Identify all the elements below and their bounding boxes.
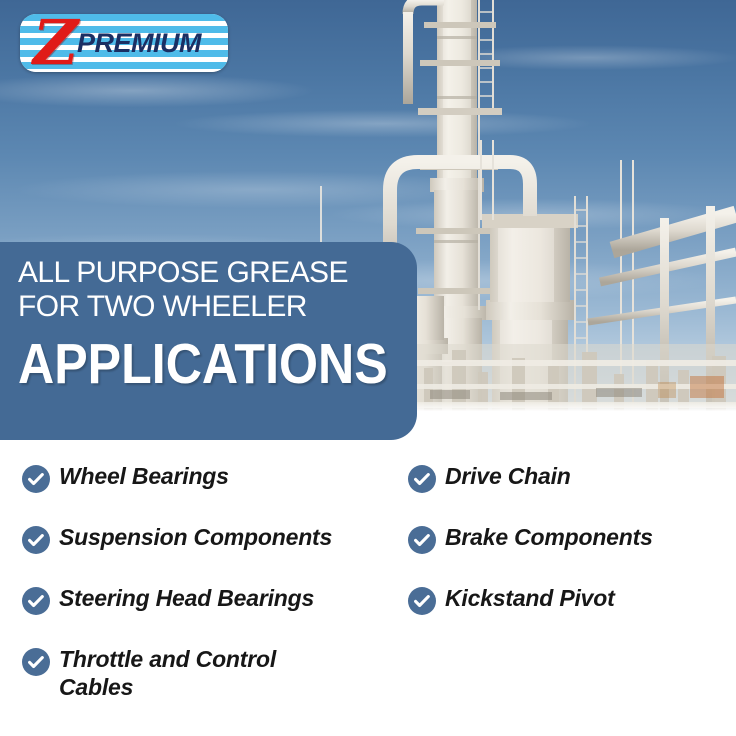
- check-circle-icon: [408, 465, 436, 493]
- headline-line-3: APPLICATIONS: [18, 334, 359, 394]
- list-item-label: Wheel Bearings: [59, 462, 229, 490]
- list-item: Wheel Bearings: [22, 462, 402, 493]
- check-circle-icon: [22, 648, 50, 676]
- list-item-label: Brake Components: [445, 523, 653, 551]
- applications-right-column: Drive Chain Brake Components: [408, 462, 728, 645]
- list-item-label: Throttle and Control Cables: [59, 645, 327, 701]
- brand-logo: Z PREMIUM: [20, 14, 228, 72]
- check-circle-icon: [408, 526, 436, 554]
- check-circle-icon: [22, 587, 50, 615]
- check-circle-icon: [408, 587, 436, 615]
- list-item-label: Steering Head Bearings: [59, 584, 314, 612]
- headline-banner: ALL PURPOSE GREASE FOR TWO WHEELER APPLI…: [0, 242, 417, 440]
- headline-line-2: FOR TWO WHEELER: [18, 290, 405, 324]
- list-item: Throttle and Control Cables: [22, 645, 402, 701]
- list-item: Suspension Components: [22, 523, 402, 554]
- list-item: Steering Head Bearings: [22, 584, 402, 615]
- promotional-poster: Z PREMIUM ALL PURPOSE GREASE FOR TWO WHE…: [0, 0, 736, 736]
- headline-banner-content: ALL PURPOSE GREASE FOR TWO WHEELER APPLI…: [18, 256, 405, 394]
- check-circle-icon: [22, 465, 50, 493]
- list-item-label: Suspension Components: [59, 523, 332, 551]
- headline-line-1: ALL PURPOSE GREASE: [18, 256, 405, 290]
- logo-wordmark: PREMIUM: [77, 30, 201, 57]
- applications-left-column: Wheel Bearings Suspension Components: [22, 462, 402, 731]
- list-item-label: Kickstand Pivot: [445, 584, 615, 612]
- list-item: Drive Chain: [408, 462, 728, 493]
- applications-list: Wheel Bearings Suspension Components: [0, 462, 736, 736]
- list-item-label: Drive Chain: [445, 462, 571, 490]
- check-circle-icon: [22, 526, 50, 554]
- logo-z-letter: Z: [33, 14, 76, 72]
- list-item: Kickstand Pivot: [408, 584, 728, 615]
- list-item: Brake Components: [408, 523, 728, 554]
